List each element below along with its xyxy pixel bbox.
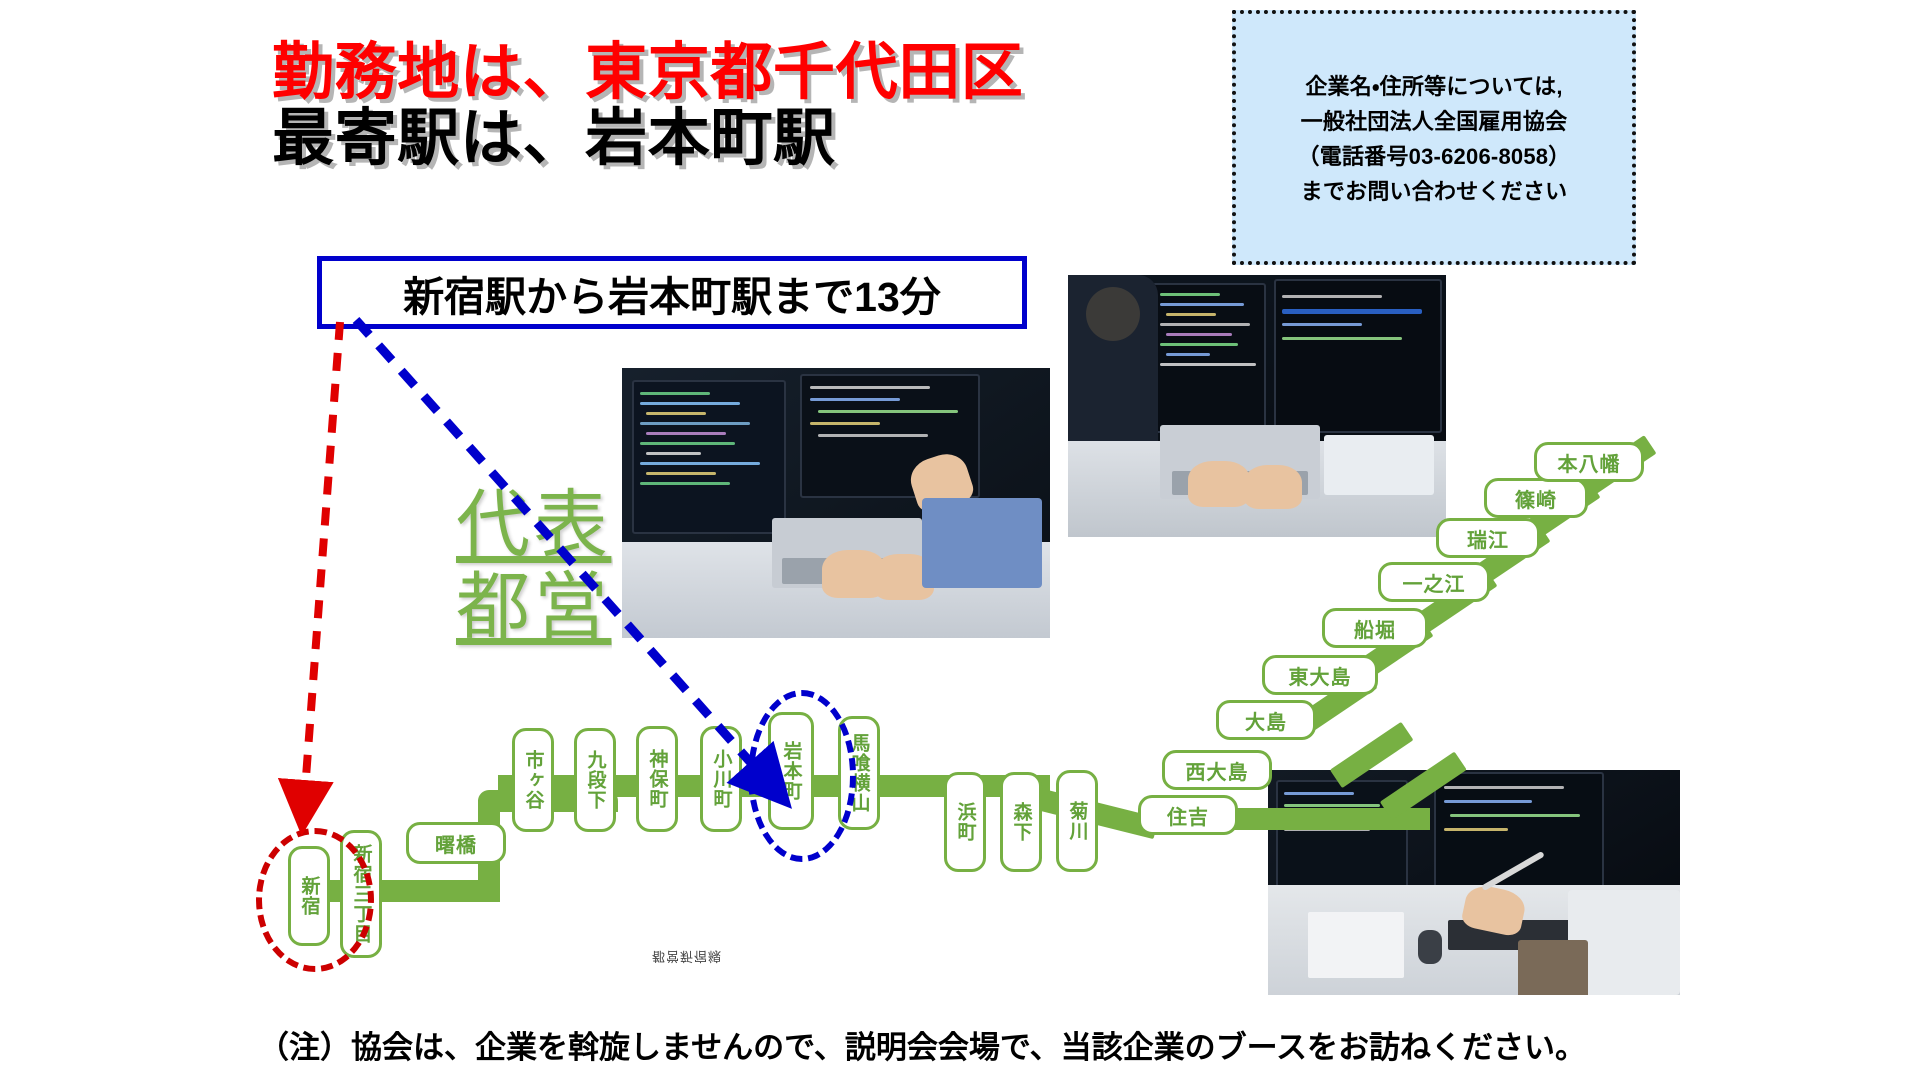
station-ichinoe[interactable]: 一之江 (1378, 562, 1490, 602)
station-akebonobashi[interactable]: 曙橋 (406, 822, 506, 864)
rail-diagonal-nishiojima-ojima (1330, 722, 1414, 788)
destination-highlight-ellipse (748, 690, 856, 862)
station-kikukawa[interactable]: 菊川 (1056, 770, 1098, 872)
slide-canvas: 勤務地は、東京都千代田区 最寄駅は、岩本町駅 新宿駅から岩本町駅まで13分 企業… (0, 0, 1920, 1080)
station-shinozaki[interactable]: 篠崎 (1484, 478, 1588, 518)
line-name-label: 都営新宿線 (652, 948, 722, 967)
station-funabori[interactable]: 船堀 (1322, 608, 1428, 648)
route-map: 新宿 新宿三丁目 曙橋 市ヶ谷 九段下 神保町 小川町 岩本町 馬喰横山 浜町 … (0, 0, 1920, 1080)
station-ogawamachi[interactable]: 小川町 (700, 726, 742, 832)
footer-note: （注）協会は、企業を斡旋しませんので、説明会会場で、当該企業のブースをお訪ねくだ… (258, 1022, 1586, 1067)
station-morishita[interactable]: 森下 (1000, 772, 1042, 872)
station-kudanshita[interactable]: 九段下 (574, 728, 616, 832)
station-nishiojima[interactable]: 西大島 (1162, 750, 1272, 790)
station-ojima[interactable]: 大島 (1216, 700, 1316, 740)
station-mizue[interactable]: 瑞江 (1436, 518, 1540, 558)
station-motoyawata[interactable]: 本八幡 (1534, 442, 1644, 482)
station-ichigaya[interactable]: 市ヶ谷 (512, 728, 554, 832)
station-jimbocho[interactable]: 神保町 (636, 726, 678, 832)
station-higashiojima[interactable]: 東大島 (1262, 655, 1378, 695)
station-sumiyoshi[interactable]: 住吉 (1138, 795, 1238, 835)
origin-highlight-ellipse (256, 828, 374, 972)
station-hamacho[interactable]: 浜町 (944, 772, 986, 872)
